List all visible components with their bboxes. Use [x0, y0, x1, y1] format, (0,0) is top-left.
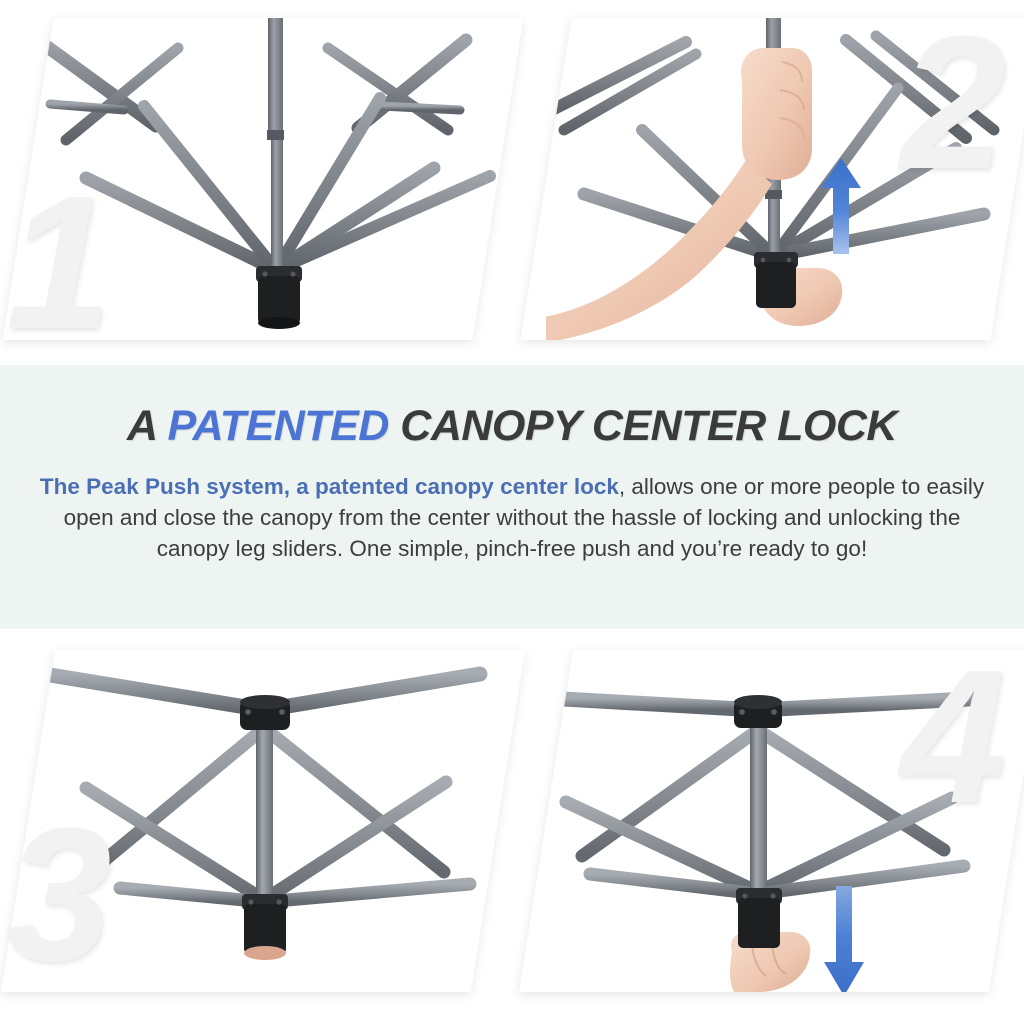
steps-row-bottom: 3 [0, 628, 1024, 1024]
description-text: The Peak Push system, a patented canopy … [36, 471, 988, 564]
step-number-watermark-4: 4 [900, 642, 1006, 832]
step-number-watermark-1: 1 [6, 168, 112, 358]
arrow-down-icon [824, 886, 864, 992]
step-number-watermark-3: 3 [6, 800, 112, 990]
title-suffix: CANOPY CENTER LOCK [389, 402, 897, 450]
title-highlight: PATENTED [167, 402, 388, 450]
divider-bottom [0, 628, 1024, 629]
arrow-up-icon [821, 158, 861, 254]
divider-top [0, 365, 1024, 366]
description-lead: The Peak Push system, a patented canopy … [40, 474, 619, 499]
infographic-page: 1 [0, 0, 1024, 1024]
step-number-watermark-2: 2 [900, 8, 1006, 198]
description-band: A PATENTED CANOPY CENTER LOCK The Peak P… [0, 366, 1024, 628]
page-title: A PATENTED CANOPY CENTER LOCK [0, 402, 1024, 451]
steps-row-top: 1 [0, 0, 1024, 368]
title-prefix: A [127, 402, 167, 450]
